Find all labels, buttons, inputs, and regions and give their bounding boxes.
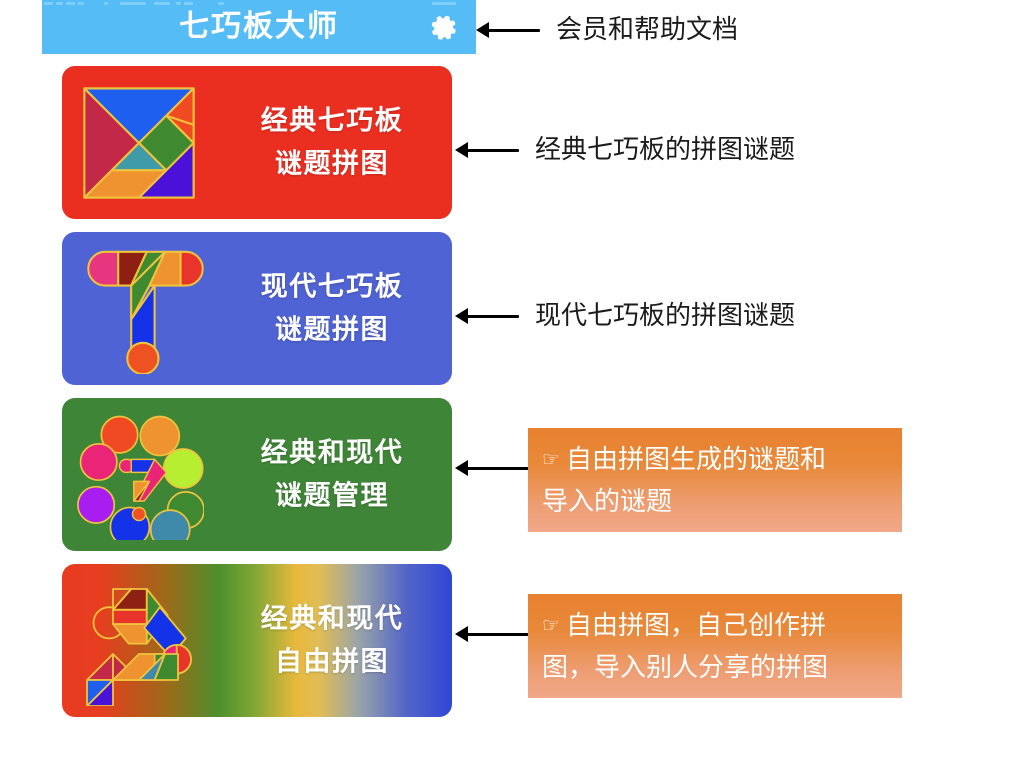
- card-label-line: 经典和现代: [222, 597, 442, 641]
- arrow-icon: [476, 28, 540, 32]
- annotation-box-generated-imported-puzzles: ☞自由拼图生成的谜题和 导入的谜题: [528, 428, 902, 532]
- page-title: 七巧板大师: [179, 12, 339, 42]
- arrow-icon: [455, 314, 519, 318]
- arrow-icon: [455, 632, 529, 636]
- arrow-icon: [455, 148, 519, 152]
- pointing-hand-icon: ☞: [542, 615, 560, 637]
- annotation-box-free-create-import: ☞自由拼图，自己创作拼 图，导入别人分享的拼图: [528, 594, 902, 698]
- annotation-free-create-import-arrow: [455, 632, 529, 636]
- phone-screen: 七巧板大师: [42, 0, 476, 740]
- annotation-box-line: ☞自由拼图生成的谜题和: [542, 438, 888, 480]
- card-free-play[interactable]: 经典和现代 自由拼图: [62, 564, 452, 717]
- annotation-generated-imported-arrow: [455, 466, 529, 470]
- annotation-classic-puzzles: 经典七巧板的拼图谜题: [455, 134, 795, 165]
- card-label-line: 自由拼图: [222, 641, 442, 685]
- annotation-box-line: ☞自由拼图，自己创作拼: [542, 604, 888, 646]
- card-label-line: 谜题管理: [222, 475, 442, 519]
- classic-tangram-square-icon: [74, 78, 204, 208]
- annotation-modern-puzzles: 现代七巧板的拼图谜题: [455, 300, 795, 331]
- card-label: 经典和现代 自由拼图: [222, 597, 442, 684]
- status-bar: [42, 0, 476, 9]
- card-modern-puzzle[interactable]: 现代七巧板 谜题拼图: [62, 232, 452, 385]
- card-classic-puzzle[interactable]: 经典七巧板 谜题拼图: [62, 66, 452, 219]
- annotation-text: 经典七巧板的拼图谜题: [535, 134, 795, 165]
- pointing-hand-icon: ☞: [542, 449, 560, 471]
- annotation-text: 会员和帮助文档: [556, 14, 738, 45]
- annotation-box-line: 图，导入别人分享的拼图: [542, 646, 888, 688]
- card-label-line: 谜题拼图: [222, 309, 442, 353]
- annotation-text: 现代七巧板的拼图谜题: [535, 300, 795, 331]
- gear-icon[interactable]: [429, 12, 459, 42]
- annotation-box-line: 导入的谜题: [542, 480, 888, 522]
- arrow-icon: [455, 466, 529, 470]
- card-label: 经典七巧板 谜题拼图: [222, 99, 442, 186]
- card-label: 现代七巧板 谜题拼图: [222, 265, 442, 352]
- modern-tangram-t-shape-icon: [74, 244, 204, 374]
- card-label-line: 经典七巧板: [222, 99, 442, 143]
- question-mark-circles-icon: [74, 410, 204, 540]
- tangram-figures-icon: [74, 576, 204, 706]
- card-label-line: 经典和现代: [222, 431, 442, 475]
- card-label-line: 谜题拼图: [222, 143, 442, 187]
- annotation-members-help: 会员和帮助文档: [476, 14, 738, 45]
- card-puzzle-management[interactable]: 经典和现代 谜题管理: [62, 398, 452, 551]
- card-label-line: 现代七巧板: [222, 265, 442, 309]
- card-label: 经典和现代 谜题管理: [222, 431, 442, 518]
